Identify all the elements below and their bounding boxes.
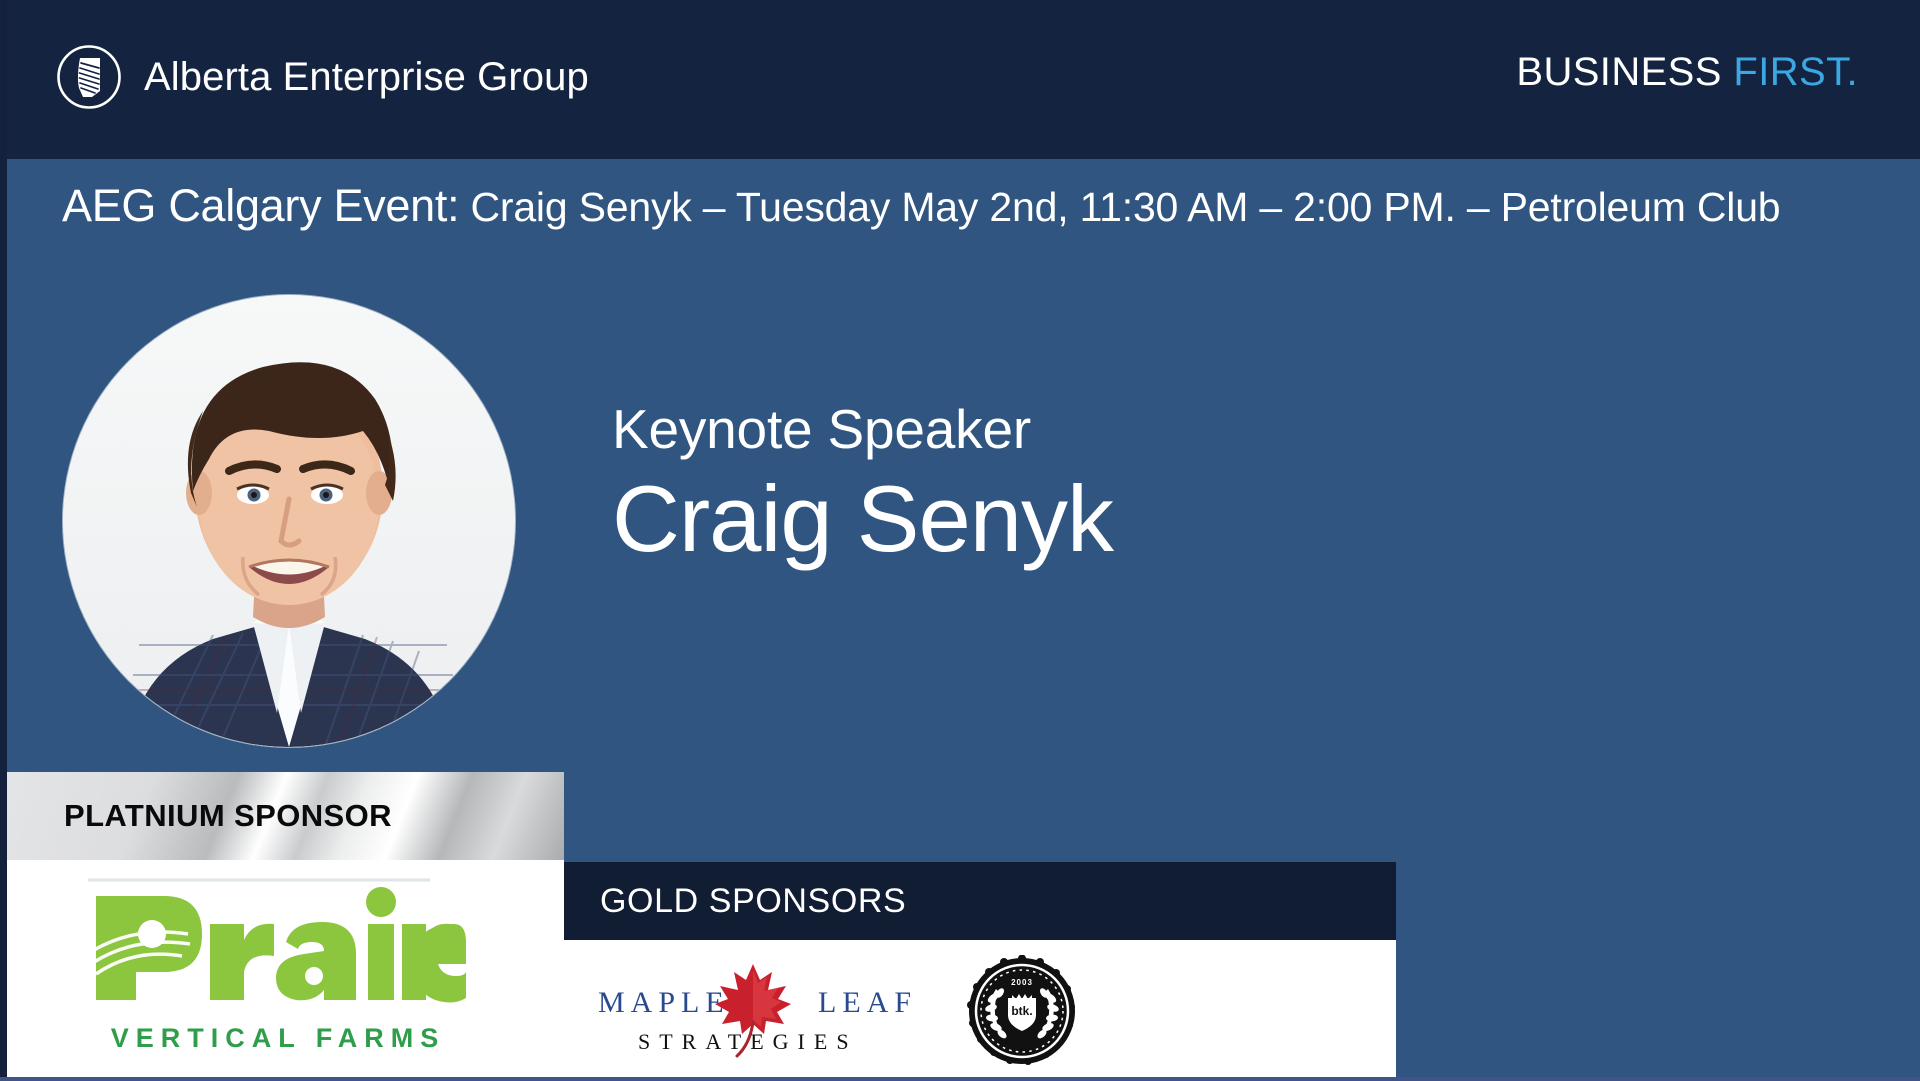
header-bar: Alberta Enterprise Group BUSINESS FIRST.	[0, 0, 1920, 159]
speaker-headshot-photo-icon	[63, 295, 515, 747]
brand-name: Alberta Enterprise Group	[144, 57, 589, 97]
alberta-province-circle-logo-icon	[56, 44, 122, 110]
event-announcement-slide: Alberta Enterprise Group BUSINESS FIRST.…	[0, 0, 1920, 1081]
speaker-role: Keynote Speaker	[612, 401, 1113, 459]
btk-seal-text: btk.	[1011, 1004, 1032, 1018]
brand-lockup: Alberta Enterprise Group	[56, 44, 589, 110]
prairie-vertical-farms-logo-icon: VERTICAL FARMS	[78, 872, 478, 1062]
maple-leaf-strategies-logo-icon: MAPLE LEAF STRATEGIES	[590, 956, 920, 1066]
platinum-sponsor-label: PLATNIUM SPONSOR	[64, 798, 392, 834]
event-title-lead: AEG Calgary Event:	[62, 180, 459, 231]
svg-text:LEAF: LEAF	[818, 986, 917, 1019]
event-title: AEG Calgary Event: Craig Senyk – Tuesday…	[62, 180, 1852, 233]
brand-tagline: BUSINESS FIRST.	[1516, 52, 1858, 92]
svg-text:MAPLE: MAPLE	[598, 986, 730, 1019]
tagline-primary: BUSINESS	[1516, 50, 1722, 94]
event-title-rest: Craig Senyk – Tuesday May 2nd, 11:30 AM …	[459, 184, 1780, 230]
gold-sponsor-logo-list: MAPLE LEAF STRATEGIES	[590, 955, 1078, 1067]
platinum-sponsor-panel: VERTICAL FARMS	[0, 860, 564, 1081]
svg-text:STRATEGIES: STRATEGIES	[638, 1029, 858, 1054]
platinum-sponsor-banner: PLATNIUM SPONSOR	[0, 772, 564, 860]
gold-sponsors-panel: MAPLE LEAF STRATEGIES	[562, 940, 1396, 1081]
speaker-block: Keynote Speaker Craig Senyk	[612, 401, 1113, 567]
left-edge-accent-bar	[0, 0, 7, 1081]
tagline-accent: FIRST.	[1722, 50, 1858, 94]
gold-sponsors-header: GOLD SPONSORS	[562, 862, 1396, 940]
bottom-edge-rule	[0, 1077, 1920, 1081]
gold-sponsors-label: GOLD SPONSORS	[600, 882, 906, 921]
prairie-subtitle: VERTICAL FARMS	[111, 1023, 446, 1053]
btk-seal-year: 2003	[1011, 978, 1033, 987]
speaker-name: Craig Senyk	[612, 471, 1113, 567]
btk-seal-logo-icon: btk. 2003	[966, 955, 1078, 1067]
